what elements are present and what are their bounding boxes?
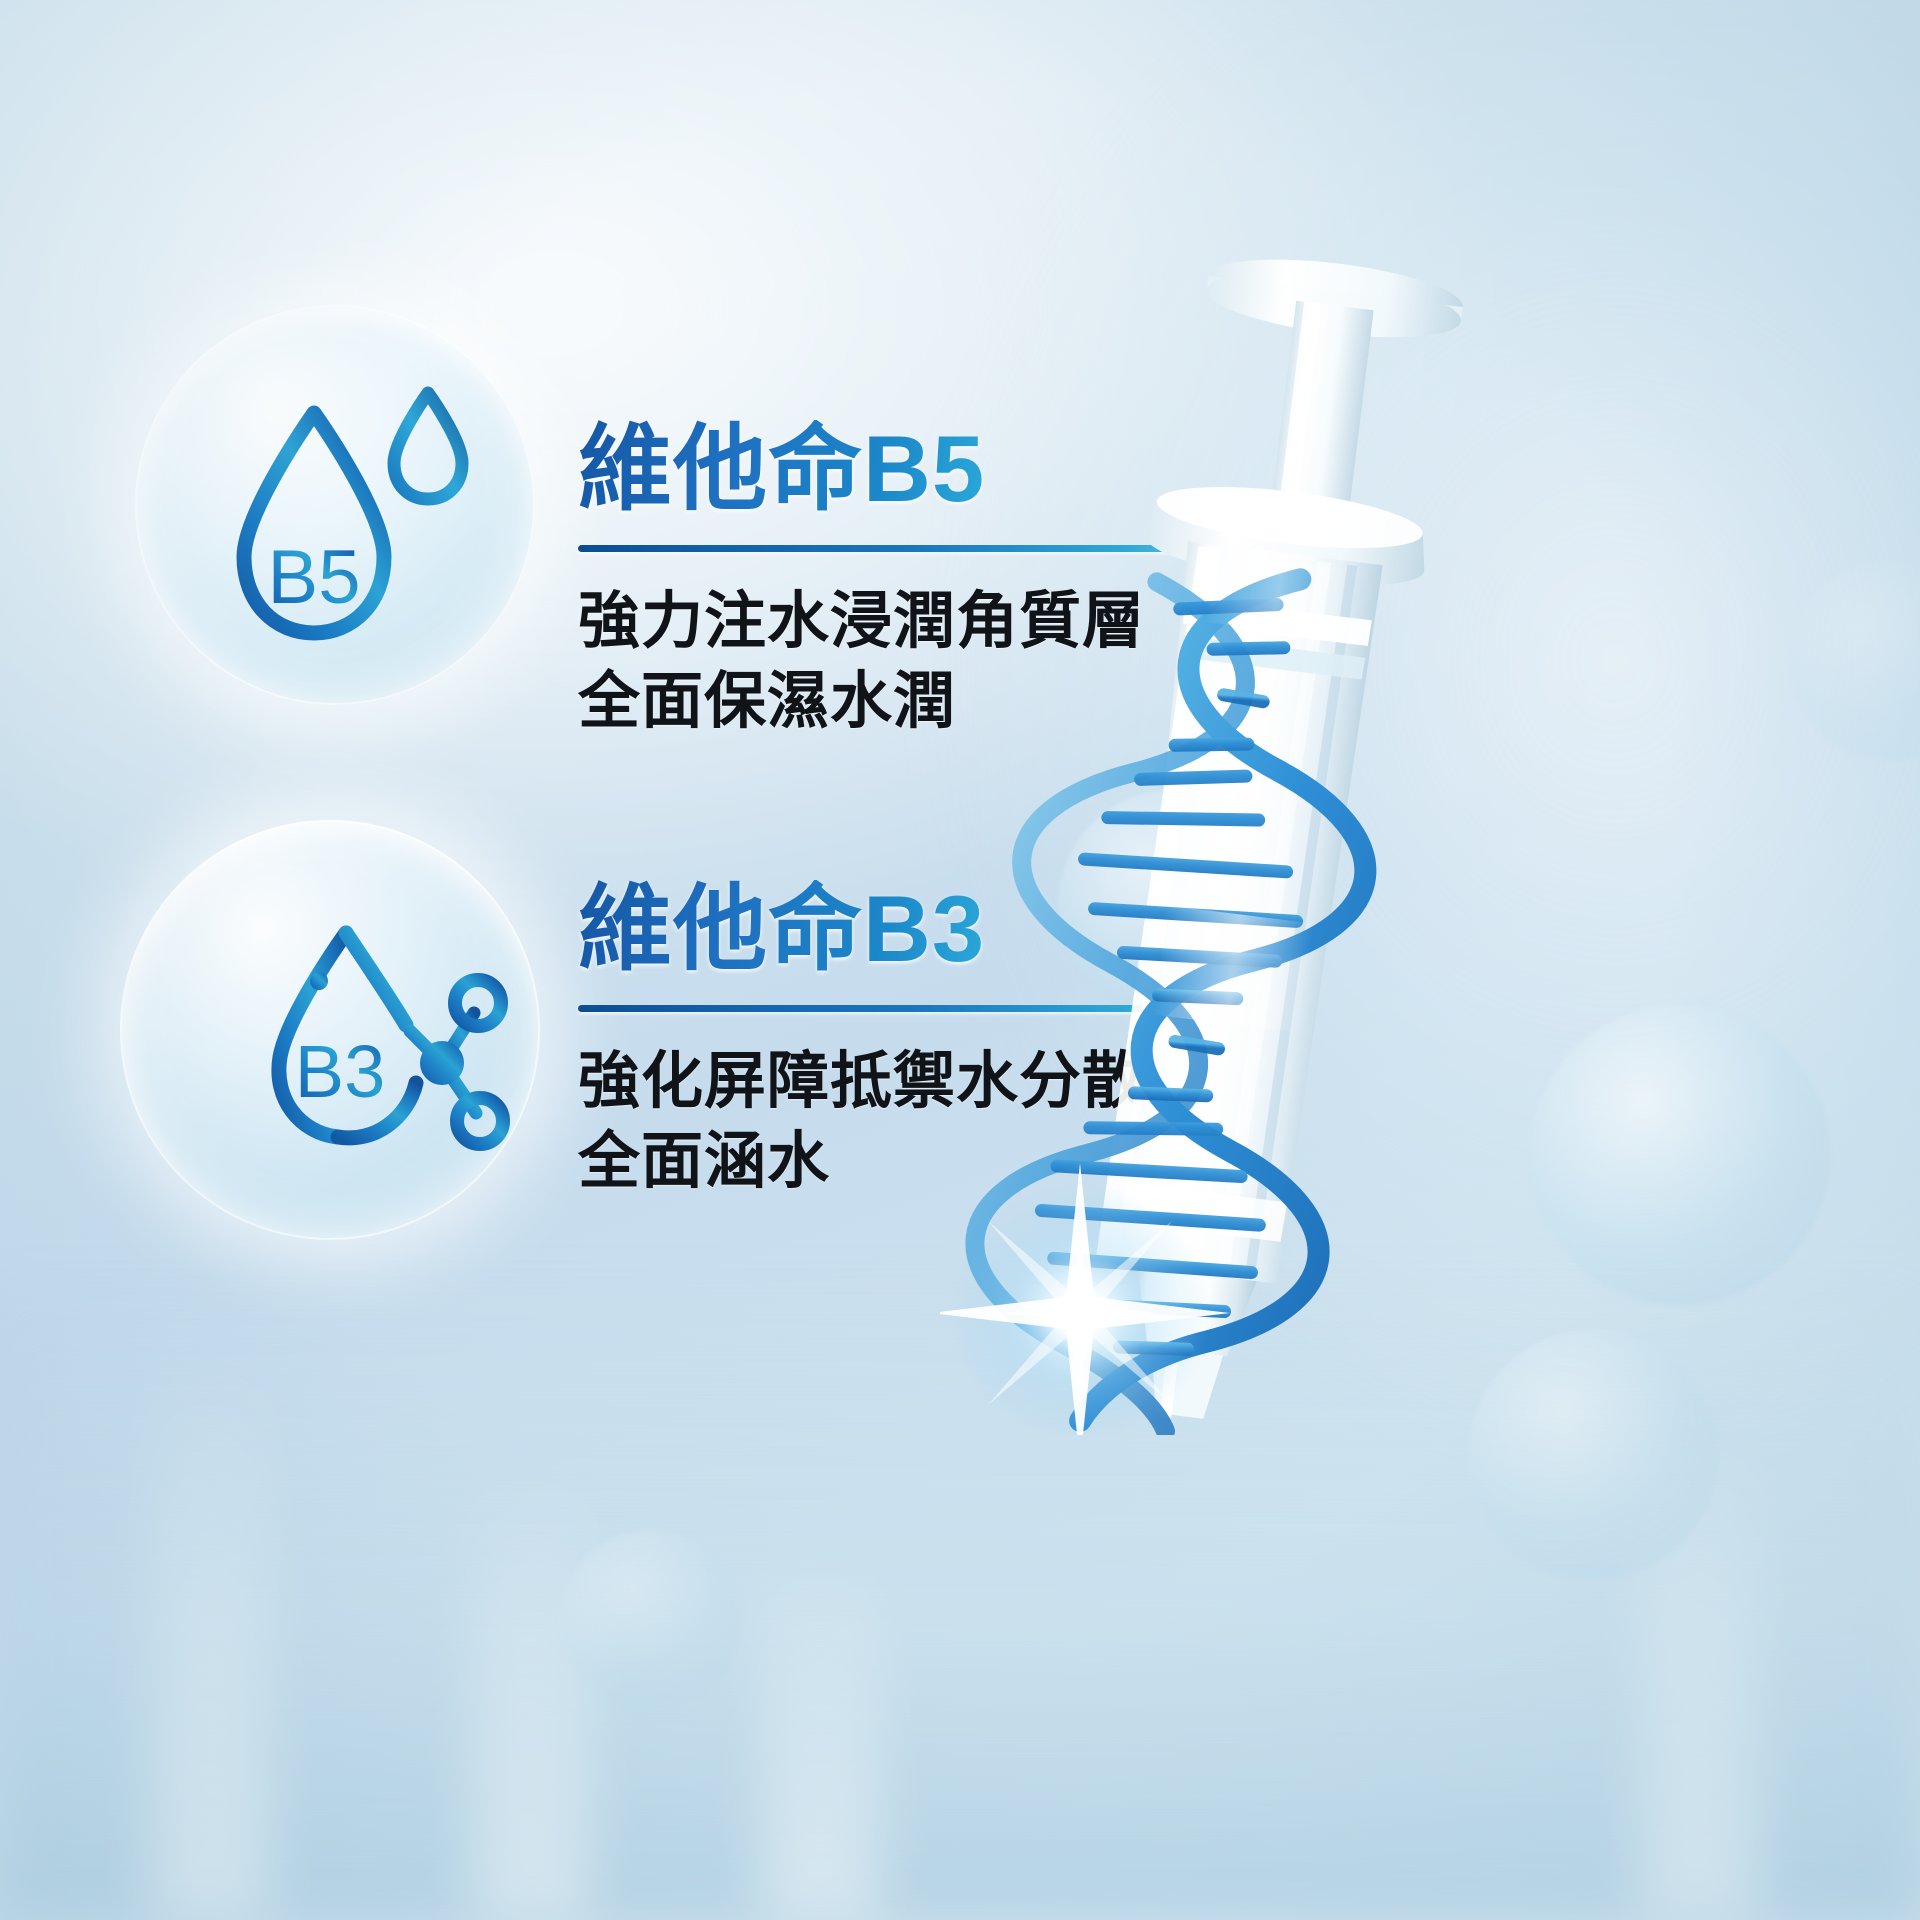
infographic-canvas: B5 維他命B5 強力注水浸潤角質層 全面保濕水潤 <box>0 0 1920 1920</box>
background-vignette <box>0 0 1920 1920</box>
